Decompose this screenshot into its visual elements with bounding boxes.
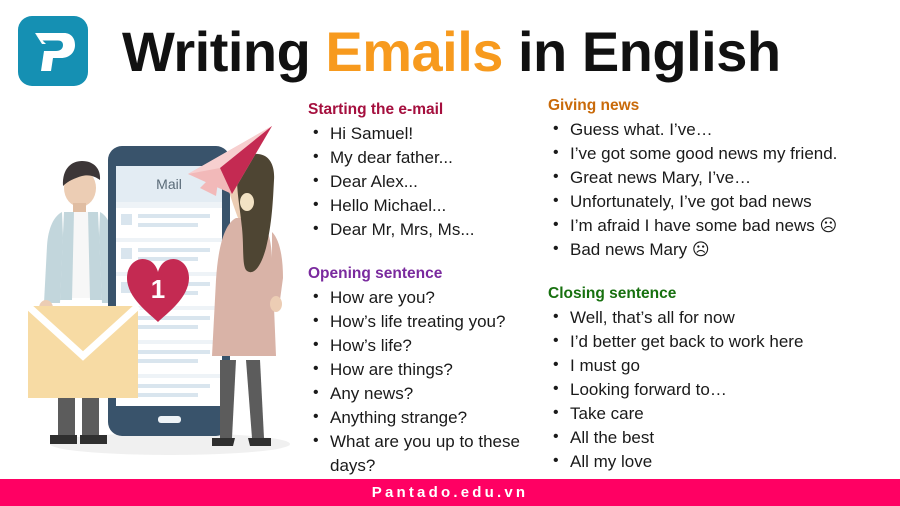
- list-item: Guess what. I’ve…: [548, 118, 896, 142]
- list-item: I’ve got some good news my friend.: [548, 142, 896, 166]
- illustration-svg: Mail: [20, 108, 310, 470]
- page-title: Writing Emails in English: [122, 18, 781, 86]
- list-item: Hi Samuel!: [308, 122, 546, 146]
- section-spacer: [308, 248, 546, 264]
- footer-website-label: Pantado.edu.vn: [0, 479, 900, 506]
- page-title-part-1: Writing: [122, 20, 325, 83]
- list-item: Great news Mary, I’ve…: [548, 166, 896, 190]
- section-starting-the-email: Starting the e-mail Hi Samuel! My dear f…: [308, 100, 546, 242]
- page-header: Writing Emails in English: [0, 0, 900, 100]
- pantado-logo: [18, 16, 88, 86]
- page-title-part-2: Emails: [325, 20, 503, 83]
- list-item: I’d better get back to work here: [548, 330, 896, 354]
- list-item: Any news?: [308, 382, 546, 406]
- list-item: Dear Mr, Mrs, Ms...: [308, 218, 546, 242]
- section-heading: Closing sentence: [548, 284, 896, 303]
- envelope: [28, 306, 138, 398]
- pantado-p-logo-icon: [18, 16, 88, 86]
- text-column-left: Starting the e-mail Hi Samuel! My dear f…: [308, 100, 546, 484]
- section-list: Hi Samuel! My dear father... Dear Alex..…: [308, 122, 546, 242]
- section-list: How are you? How’s life treating you? Ho…: [308, 286, 546, 478]
- text-column-right: Giving news Guess what. I’ve… I’ve got s…: [548, 96, 896, 480]
- list-item: How are things?: [308, 358, 546, 382]
- section-opening-sentence: Opening sentence How are you? How’s life…: [308, 264, 546, 478]
- list-item: Take care: [548, 402, 896, 426]
- section-heading: Giving news: [548, 96, 896, 115]
- list-item: Bad news Mary ☹: [548, 238, 896, 262]
- section-spacer: [548, 268, 896, 284]
- section-giving-news: Giving news Guess what. I’ve… I’ve got s…: [548, 96, 896, 262]
- list-item: Unfortunately, I’ve got bad news: [548, 190, 896, 214]
- list-item: All the best: [548, 426, 896, 450]
- page-title-part-3: in English: [503, 20, 781, 83]
- section-list: Guess what. I’ve… I’ve got some good new…: [548, 118, 896, 262]
- list-item: Dear Alex...: [308, 170, 546, 194]
- list-item: How are you?: [308, 286, 546, 310]
- footer-bar: Pantado.edu.vn: [0, 479, 900, 506]
- list-item: I must go: [548, 354, 896, 378]
- list-item: I’m afraid I have some bad news ☹: [548, 214, 896, 238]
- list-item: Well, that’s all for now: [548, 306, 896, 330]
- list-item: Hello Michael...: [308, 194, 546, 218]
- list-item: My dear father...: [308, 146, 546, 170]
- section-list: Well, that’s all for now I’d better get …: [548, 306, 896, 474]
- section-heading: Opening sentence: [308, 264, 546, 283]
- list-item: Anything strange?: [308, 406, 546, 430]
- list-item: How’s life?: [308, 334, 546, 358]
- list-item: What are you up to these days?: [308, 430, 546, 478]
- heart-badge-count: 1: [151, 274, 165, 304]
- list-item: Looking forward to…: [548, 378, 896, 402]
- list-item: How’s life treating you?: [308, 310, 546, 334]
- list-item: All my love: [548, 450, 896, 474]
- phone-mail-label: Mail: [156, 176, 182, 192]
- section-closing-sentence: Closing sentence Well, that’s all for no…: [548, 284, 896, 474]
- email-people-illustration: Mail: [20, 108, 310, 470]
- section-heading: Starting the e-mail: [308, 100, 546, 119]
- infographic-page: Writing Emails in English: [0, 0, 900, 506]
